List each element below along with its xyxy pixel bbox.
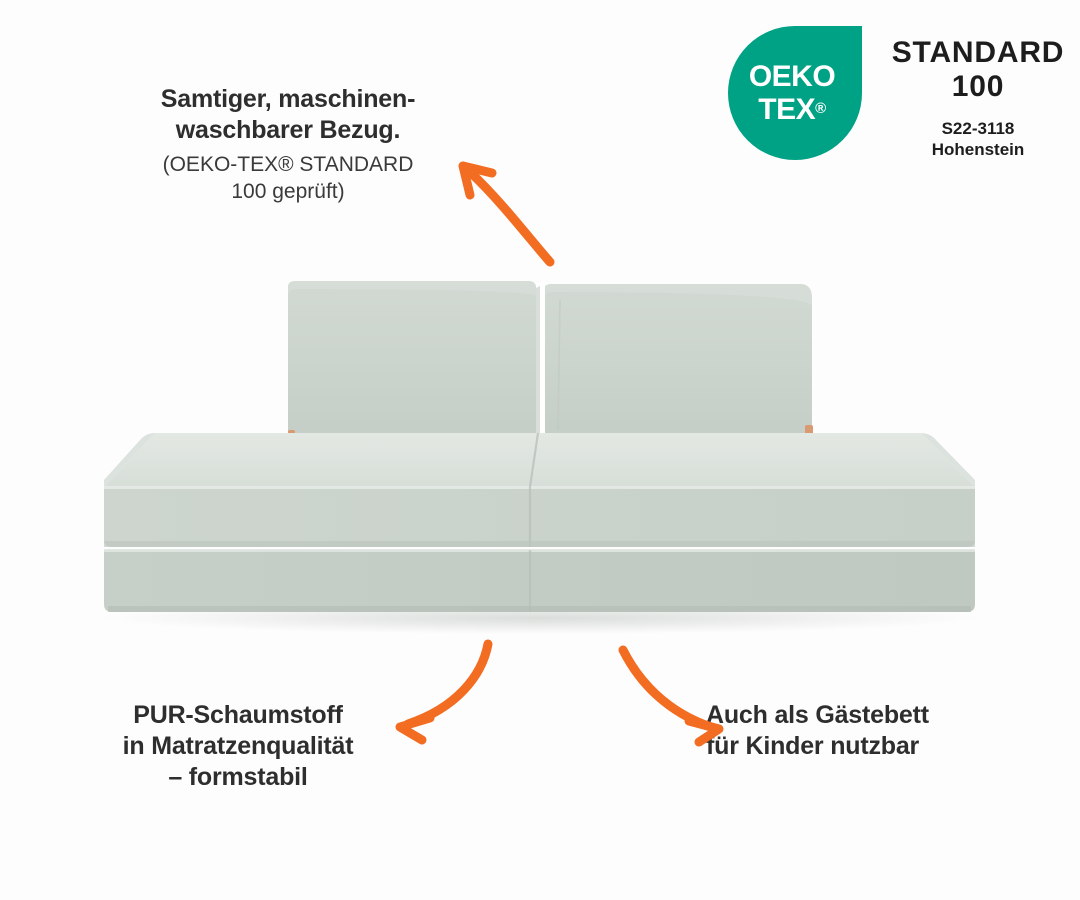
oeko-logo-line2: TEX® (758, 93, 825, 126)
oeko-tex-droplet-logo: OEKO TEX® (728, 26, 862, 160)
backrest-right (544, 284, 812, 452)
callout-foam-heading-line1: PUR-Schaumstoff (78, 700, 398, 731)
oeko-tex-standard-info: STANDARD 100 S22-3118 Hohenstein (878, 36, 1078, 160)
standard-number: 100 (878, 70, 1078, 104)
arrow-to-foam-icon (378, 628, 548, 743)
callout-machine-washable-cover: Samtiger, maschinen- waschbarer Bezug. (… (118, 84, 458, 205)
callout-foam-heading-line2: in Matratzenqualität (78, 731, 398, 762)
callout-foam-heading: PUR-Schaumstoff in Matratzenqualität – f… (78, 700, 398, 793)
arrow-to-guestbed-icon (615, 628, 785, 743)
certificate-code: S22-3118 (878, 118, 1078, 139)
backrest-left (288, 281, 536, 450)
callout-pur-foam-quality: PUR-Schaumstoff in Matratzenqualität – f… (78, 700, 398, 793)
infographic-canvas: OEKO TEX® STANDARD 100 S22-3118 Hohenste… (0, 0, 1080, 900)
callout-cover-subtext-line2: 100 geprüft) (118, 178, 458, 205)
callout-cover-subtext: (OEKO-TEX® STANDARD 100 geprüft) (118, 151, 458, 205)
seat-layer (104, 433, 975, 547)
backrest-gap (536, 283, 545, 451)
oeko-logo-line2-text: TEX (758, 93, 815, 126)
callout-cover-heading: Samtiger, maschinen- waschbarer Bezug. (118, 84, 458, 146)
oeko-tex-certification-badge: OEKO TEX® STANDARD 100 S22-3118 Hohenste… (728, 26, 1080, 176)
base-layer (104, 549, 975, 612)
callout-cover-subtext-line1: (OEKO-TEX® STANDARD (118, 151, 458, 178)
registered-mark-icon: ® (815, 100, 826, 117)
arrow-to-cover-icon (440, 150, 590, 270)
oeko-logo-line1: OEKO (749, 61, 835, 93)
clip-left-icon (288, 430, 295, 443)
callout-cover-heading-line2: waschbarer Bezug. (118, 115, 458, 146)
callout-foam-heading-line3: – formstabil (78, 762, 398, 793)
certifying-institute: Hohenstein (878, 139, 1078, 160)
standard-label: STANDARD (878, 36, 1078, 70)
clip-right-icon (805, 425, 813, 440)
callout-cover-heading-line1: Samtiger, maschinen- (118, 84, 458, 115)
